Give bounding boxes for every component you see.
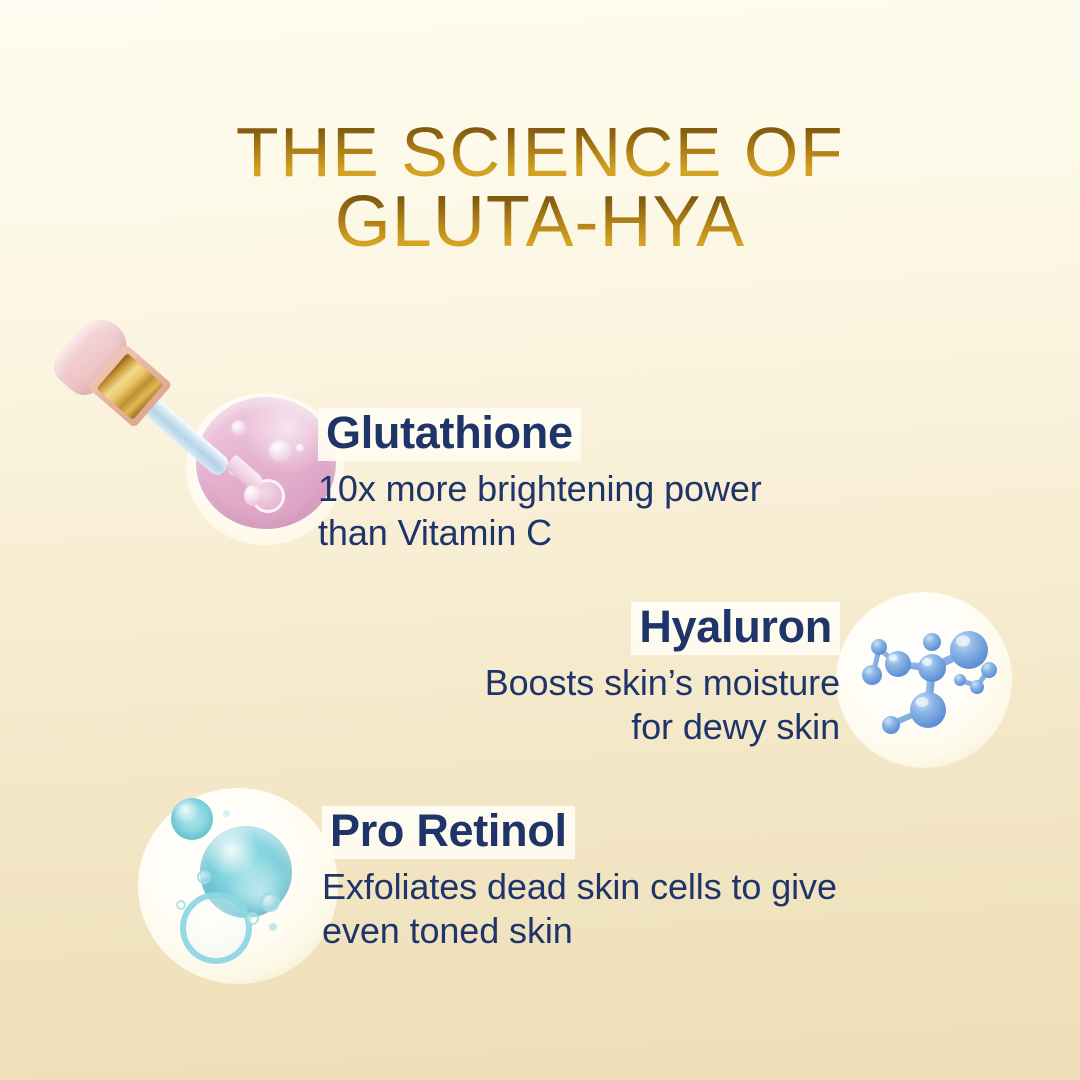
atom-bottom bbox=[910, 692, 946, 728]
teal-bubble-top bbox=[171, 798, 213, 840]
description-line-1: Boosts skin’s moisture bbox=[420, 661, 840, 706]
ingredient-description-hyaluron: Boosts skin’s moisture for dewy skin bbox=[420, 661, 840, 750]
description-line-2: for dewy skin bbox=[420, 705, 840, 750]
serum-bubble-3 bbox=[296, 444, 304, 452]
serum-dropper-pink-icon bbox=[38, 305, 338, 580]
atom-left bbox=[885, 651, 911, 677]
page-title: THE SCIENCE OF GLUTA-HYA bbox=[0, 118, 1080, 259]
description-line-2: than Vitamin C bbox=[318, 511, 938, 556]
teal-bubble-small-3 bbox=[246, 912, 259, 925]
teal-bubble-small-5 bbox=[269, 923, 277, 931]
teal-bubble-ring bbox=[180, 892, 252, 964]
ingredient-hyaluron: Hyaluron Boosts skin’s moisture for dewy… bbox=[420, 602, 840, 750]
dropper-glass-pipette bbox=[141, 396, 232, 479]
atom-far-upper-left bbox=[871, 639, 887, 655]
atom-far-left bbox=[862, 665, 882, 685]
atom-bottom-left bbox=[882, 716, 900, 734]
science-of-gluta-hya-poster: THE SCIENCE OF GLUTA-HYA Glutathione 10x… bbox=[0, 0, 1080, 1080]
ingredient-description-glutathione: 10x more brightening power than Vitamin … bbox=[318, 467, 938, 556]
molecule-icon bbox=[836, 592, 1012, 768]
atom-top bbox=[923, 633, 941, 651]
description-line-2: even toned skin bbox=[322, 909, 922, 954]
dropper-icon bbox=[44, 305, 274, 520]
ingredient-description-pro-retinol: Exfoliates dead skin cells to give even … bbox=[322, 865, 922, 954]
atom-upper-right bbox=[950, 631, 988, 669]
atom-right-small-3 bbox=[981, 662, 997, 678]
teal-bubble-small-6 bbox=[223, 810, 230, 817]
title-line-1: THE SCIENCE OF bbox=[0, 118, 1080, 187]
ingredient-pro-retinol: Pro Retinol Exfoliates dead skin cells t… bbox=[322, 806, 922, 954]
teal-bubble-small-2 bbox=[197, 870, 211, 884]
ingredient-name-glutathione: Glutathione bbox=[318, 408, 581, 461]
teal-bubbles-icon bbox=[138, 788, 338, 984]
description-line-1: Exfoliates dead skin cells to give bbox=[322, 865, 922, 910]
teal-bubble-small-1 bbox=[260, 892, 280, 912]
ingredient-name-hyaluron: Hyaluron bbox=[631, 602, 840, 655]
ingredient-glutathione: Glutathione 10x more brightening power t… bbox=[318, 408, 938, 556]
ingredient-name-pro-retinol: Pro Retinol bbox=[322, 806, 575, 859]
description-line-1: 10x more brightening power bbox=[318, 467, 938, 512]
serum-droplet bbox=[244, 485, 261, 506]
teal-bubble-small-4 bbox=[176, 900, 186, 910]
title-line-2: GLUTA-HYA bbox=[0, 187, 1080, 258]
atom-right-small-2 bbox=[970, 680, 984, 694]
molecule-structure bbox=[836, 592, 1012, 768]
atom-right-small-1 bbox=[954, 674, 966, 686]
dropper-tip bbox=[224, 454, 265, 493]
atom-center bbox=[918, 654, 946, 682]
